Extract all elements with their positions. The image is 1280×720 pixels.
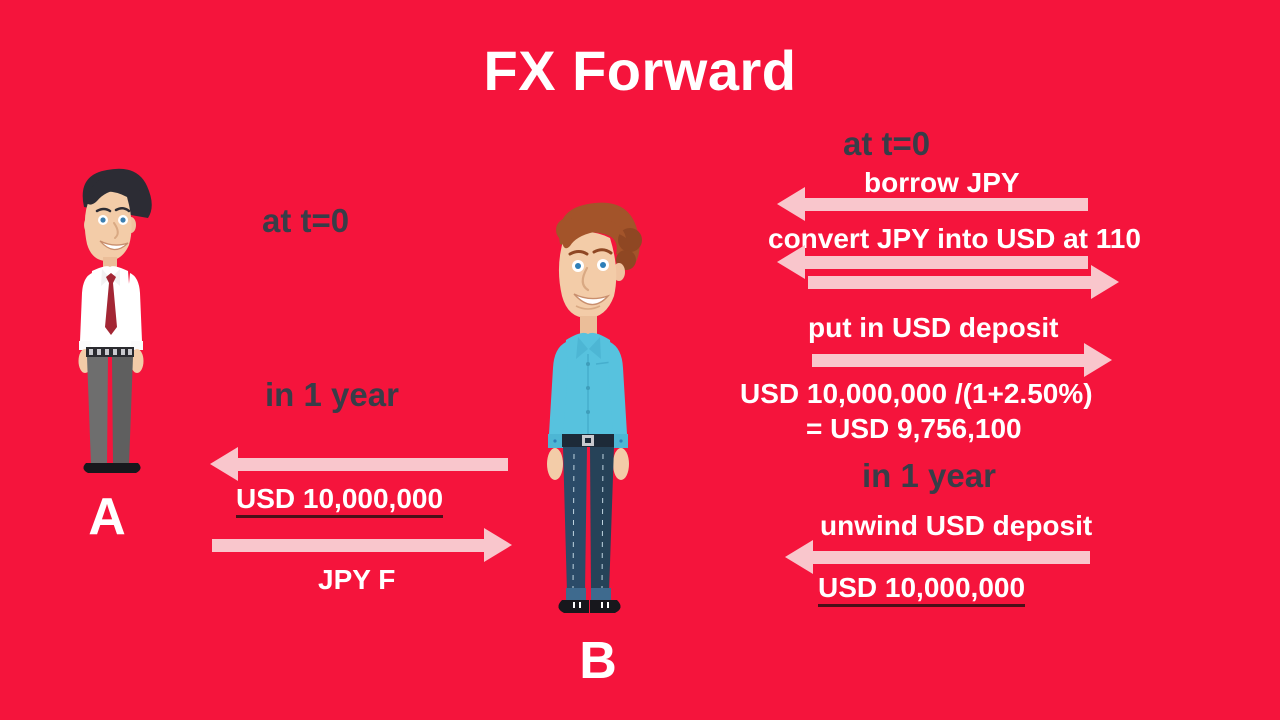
- arrow-shaft: [212, 539, 486, 552]
- left-arrow-usd-label: USD 10,000,000: [236, 484, 443, 518]
- character-b-label: B: [518, 631, 678, 691]
- fx-forward-slide: FX Forward: [0, 0, 1280, 720]
- step-convert-label: convert JPY into USD at 110: [768, 224, 1141, 253]
- arrow-shaft: [803, 198, 1088, 211]
- arrow-shaft: [811, 551, 1090, 564]
- arrow-head-right-icon: [1091, 265, 1119, 299]
- calculation-line-2: = USD 9,756,100: [806, 414, 1022, 443]
- character-b: B: [518, 196, 678, 636]
- left-flow-timing-bottom: in 1 year: [265, 378, 399, 413]
- maturity-amount-label: USD 10,000,000: [818, 573, 1025, 607]
- arrow-shaft: [808, 276, 1093, 289]
- arrow-head-left-icon: [777, 187, 805, 221]
- character-a-figure: [42, 165, 172, 495]
- left-arrow-jpy-label: JPY F: [318, 565, 395, 594]
- character-b-figure: [518, 196, 678, 636]
- arrow-head-right-icon: [484, 528, 512, 562]
- right-flow-timing-top: at t=0: [843, 127, 930, 162]
- step-put-deposit-label: put in USD deposit: [808, 313, 1058, 342]
- arrow-head-left-icon: [785, 540, 813, 574]
- arrow-head-right-icon: [1084, 343, 1112, 377]
- step-borrow-jpy-label: borrow JPY: [864, 168, 1020, 197]
- step-unwind-deposit-label: unwind USD deposit: [820, 511, 1092, 540]
- arrow-head-left-icon: [210, 447, 238, 481]
- arrow-shaft: [803, 256, 1088, 269]
- left-flow-timing-top: at t=0: [262, 204, 349, 239]
- arrow-head-left-icon: [777, 245, 805, 279]
- page-title: FX Forward: [0, 38, 1280, 103]
- right-flow-timing-bottom: in 1 year: [862, 459, 996, 494]
- character-a-label: A: [42, 487, 172, 547]
- arrow-shaft: [236, 458, 508, 471]
- character-a: A: [42, 165, 172, 495]
- calculation-line-1: USD 10,000,000 /(1+2.50%): [740, 379, 1093, 408]
- arrow-shaft: [812, 354, 1086, 367]
